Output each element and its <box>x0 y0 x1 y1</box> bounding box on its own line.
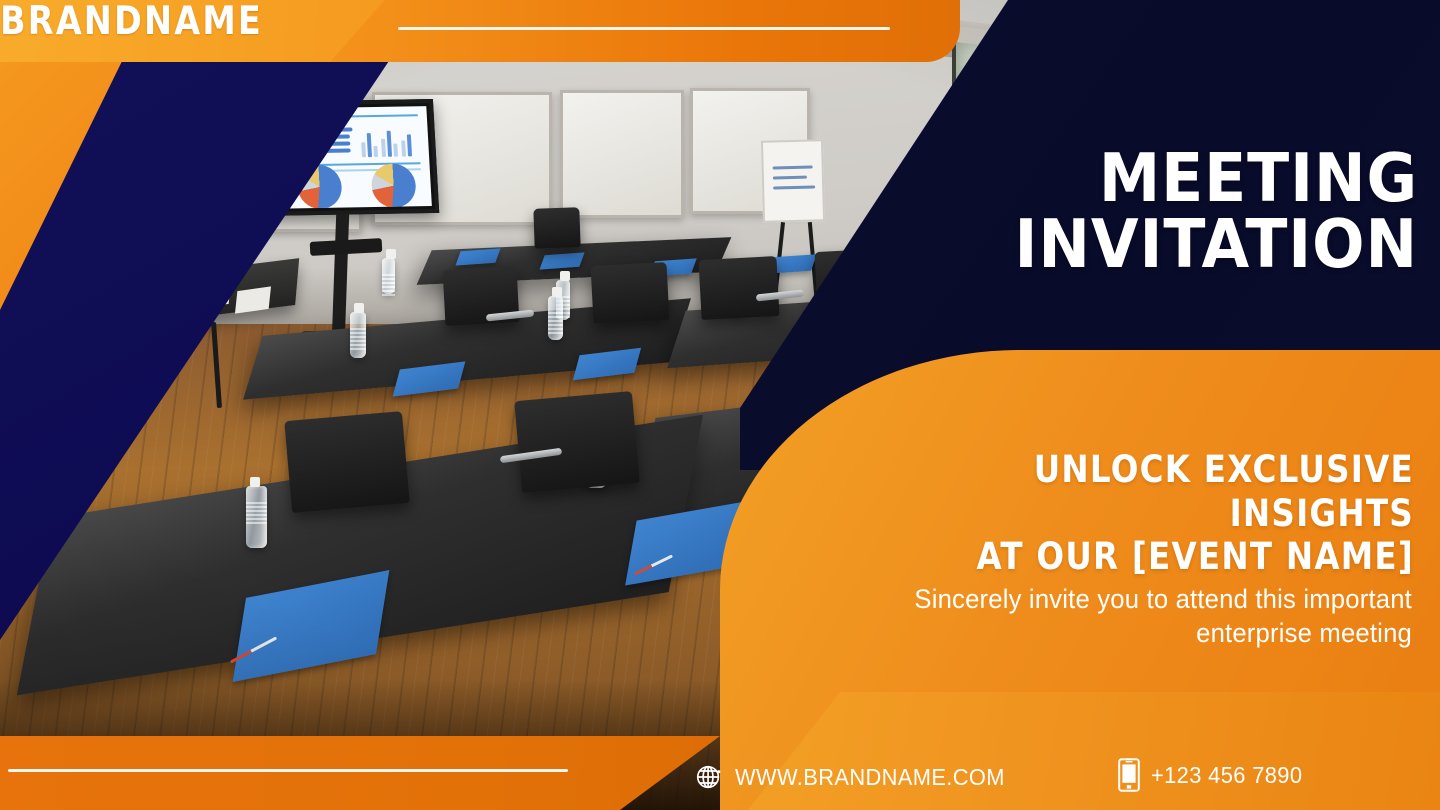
website-label: WWW.BRANDNAME.COM <box>735 764 1005 791</box>
title-line-2: INVITATION <box>829 212 1418 278</box>
chair <box>591 262 670 324</box>
chair <box>698 256 779 320</box>
page-title: MEETING INVITATION <box>829 146 1418 277</box>
phone-label: +123 456 7890 <box>1151 762 1302 789</box>
water-bottle <box>246 486 267 548</box>
meeting-invitation-poster: BRANDNAME MEETING INVITATION UNLOCK EXCL… <box>0 0 1440 810</box>
water-bottle <box>350 312 366 358</box>
water-bottle <box>382 258 395 294</box>
flip-chart-pad <box>761 139 825 223</box>
footer-rule-line <box>8 769 568 772</box>
water-bottle <box>548 296 563 340</box>
body-text: Sincerely invite you to attend this impo… <box>804 582 1412 650</box>
brand-logo-text: BRANDNAME <box>0 0 1238 44</box>
chair <box>533 207 580 249</box>
phone-contact[interactable]: +123 456 7890 <box>1118 758 1310 792</box>
mobile-phone-icon <box>1118 758 1140 792</box>
chair <box>514 391 640 493</box>
whiteboard <box>560 90 684 218</box>
website-contact[interactable]: WWW.BRANDNAME.COM <box>694 762 1019 792</box>
subtitle-line-2: AT OUR [EVENT NAME] <box>877 535 1414 579</box>
globe-icon <box>694 762 724 792</box>
chair <box>284 411 410 513</box>
pie-chart <box>370 163 416 208</box>
subtitle: UNLOCK EXCLUSIVE INSIGHTS AT OUR [EVENT … <box>877 448 1414 579</box>
body-line-1: Sincerely invite you to attend this impo… <box>914 584 1412 614</box>
subtitle-line-1: UNLOCK EXCLUSIVE INSIGHTS <box>1034 448 1414 535</box>
body-line-2: enterprise meeting <box>804 616 1412 650</box>
